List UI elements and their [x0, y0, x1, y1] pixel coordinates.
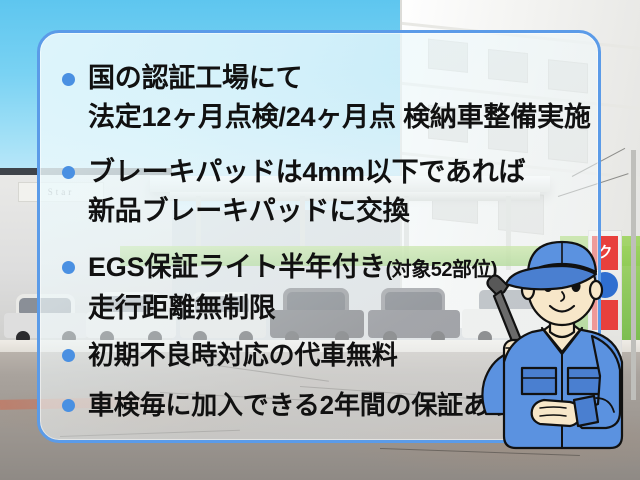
bullet-item-brake-pad-replacement: ブレーキパッドは4mm以下であれば 新品ブレーキパッドに交換 — [62, 153, 586, 231]
bullet-item-certified-workshop: 国の認証工場にて 法定12ヶ月点検/24ヶ月点 検納車整備実施 — [62, 59, 586, 137]
bullet-dot-icon — [62, 261, 75, 274]
bullet-dot-icon — [62, 399, 75, 412]
cap-icon — [506, 242, 596, 289]
pocket-right — [568, 368, 602, 394]
bullet-line: 法定12ヶ月点検/24ヶ月点 検納車整備実施 — [88, 98, 591, 137]
hand-right — [532, 400, 580, 426]
pocket-left — [522, 368, 556, 394]
bullet-line-main: EGS保証ライト半年付き — [88, 252, 386, 282]
bullet-line: 国の認証工場にて — [88, 59, 591, 98]
bullet-dot-icon — [62, 349, 75, 362]
ear-right — [590, 281, 602, 299]
cuff — [574, 396, 598, 426]
bullet-dot-icon — [62, 166, 75, 179]
mechanic-illustration — [470, 236, 640, 480]
bullet-line: ブレーキパッドは4mm以下であれば — [88, 153, 586, 192]
bullet-dot-icon — [62, 73, 75, 86]
bullet-line: 新品ブレーキパッドに交換 — [88, 192, 586, 231]
